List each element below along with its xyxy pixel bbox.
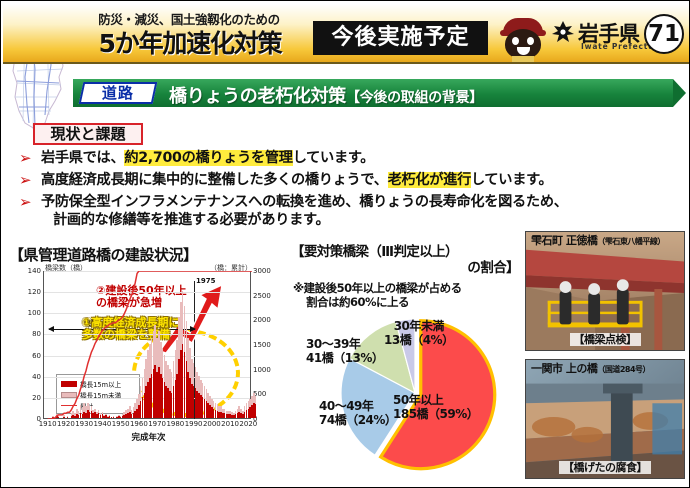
title-bar: 道路 橋りょうの老朽化対策【今後の取組の背景】: [73, 79, 673, 107]
photo-title-note: （雫石東八幡平線）: [597, 237, 665, 246]
girder-corrosion-photo: 一関市 上の橋（国道284号） 【橋げたの腐食】: [525, 359, 685, 479]
x-axis-tick: 1970: [148, 420, 166, 428]
photo-title: 雫石町 正徳橋（雫石東八幡平線）: [526, 232, 684, 249]
legend-item: 橋長15m以上: [61, 378, 135, 389]
page-number: 71: [644, 14, 684, 54]
bar-segment-small: [255, 396, 257, 404]
slide-root: 防災・減災、国土強靱化のための 5か年加速化対策 今後実施予定 岩手県 Iwat…: [0, 0, 690, 488]
bar: [52, 416, 54, 418]
x-axis-tick: 2000: [203, 420, 221, 428]
pie-title-line2: の割合】: [291, 260, 519, 276]
annotation-1-text: ①高度経済成長期に多数の橋梁を整備: [82, 317, 179, 341]
legend-swatch-icon: [61, 381, 77, 387]
list-item: ➢岩手県では、約2,700の橋りょうを管理しています。: [17, 149, 677, 167]
bullet-text-pre: 岩手県では、: [41, 150, 124, 166]
bar-segment-small: [102, 412, 104, 414]
page-title-suffix: 【今後の取組の背景】: [346, 90, 483, 106]
y2-axis-tick: 1000: [253, 366, 271, 374]
photo-caption-text: 【橋梁点検】: [570, 333, 641, 346]
gridline: [44, 292, 250, 293]
y2-axis-tick: 1500: [253, 341, 271, 349]
x-axis-tick: 2020: [239, 420, 257, 428]
y-axis-tick: 100: [28, 309, 41, 317]
bullet-text-post: しています。: [471, 172, 552, 188]
y2-axis-tick: 2000: [253, 316, 271, 324]
bar-segment-large: [58, 417, 60, 418]
bar-segment-large: [52, 417, 54, 418]
y2-axis-tick: 3000: [253, 267, 271, 275]
bar-segment-small: [58, 416, 60, 417]
pie-label-50plus: 50年以上 185橋（59%）: [393, 393, 478, 421]
legend-label: 橋長15m以上: [80, 379, 121, 389]
bar-segment-large: [113, 417, 115, 418]
page-title-main: 橋りょうの老朽化対策: [169, 86, 346, 107]
x-axis-tick: 1940: [93, 420, 111, 428]
photo-title-main: 雫石町 正徳橋: [531, 234, 597, 247]
photo-title: 一関市 上の橋（国道284号）: [526, 360, 684, 377]
bullet-arrow-icon: ➢: [19, 171, 31, 189]
x-axis-tick: 1910: [39, 420, 57, 428]
pie-label-line2: 41橋（13%）: [306, 351, 383, 365]
bar-segment-small: [67, 416, 69, 417]
x-axis-tick: 1990: [185, 420, 203, 428]
gridline: [44, 313, 250, 314]
pie-label-line2: 74橋（24%）: [319, 413, 396, 427]
bar-segment-large: [255, 404, 257, 418]
pie-label-line1: 30～39年: [306, 337, 360, 351]
y-axis-tick: 140: [28, 267, 41, 275]
x-axis-tick: 1920: [57, 420, 75, 428]
bullet-arrow-icon: ➢: [19, 193, 31, 211]
photo-caption: 【橋梁点検】: [526, 331, 684, 347]
legend-swatch-icon: [61, 392, 77, 398]
section-heading-situation: 現状と課題: [33, 123, 143, 145]
bar-chart: 橋梁数（橋） （橋：累計） 1975 建設後50年以上 ②建設後50年以上の橋梁…: [11, 263, 286, 443]
iwate-mascot-icon: [501, 16, 545, 62]
y-axis-tick: 40: [32, 373, 41, 381]
pie-chart-title: 【要対策橋梁（Ⅲ判定以上） の割合】: [291, 244, 519, 276]
bar-segment-small: [63, 415, 65, 417]
status-badge: 今後実施予定: [313, 21, 488, 55]
pie-label-line1: 50年以上: [393, 393, 443, 407]
pie-label-under30: 30年未満 13橋（4%）: [384, 319, 454, 347]
pie-label-30-39: 30～39年 41橋（13%）: [306, 337, 383, 365]
bullet-text-highlight: 約2,700の橋りょうを管理: [124, 150, 292, 166]
photo-caption-text: 【橋げたの腐食】: [559, 461, 651, 474]
annotation-2-text: ②建設後50年以上の橋梁が急増: [96, 285, 187, 309]
bullet-text-pre: 予防保全型インフラメンテナンスへの転換を進め、橋りょうの長寿命化を図るため、: [41, 194, 568, 210]
bar: [58, 416, 60, 418]
pie-label-line2: 185橋（59%）: [393, 407, 478, 421]
bar-segment-small: [105, 414, 107, 415]
x-axis-tick: 2010: [221, 420, 239, 428]
photo-title-note: （国道284号）: [597, 365, 650, 374]
bridge-inspection-photo: 雫石町 正徳橋（雫石東八幡平線） 【橋梁点検】: [525, 231, 685, 351]
pie-note-line1: ※建設後50年以上の橋梁が占める: [293, 281, 462, 295]
gridline: [44, 271, 250, 272]
y-axis-tick: 120: [28, 288, 41, 296]
bar-segment-small: [113, 416, 115, 417]
legend-line-icon: [61, 405, 77, 406]
y-axis-tick: 60: [32, 352, 41, 360]
iwate-prefecture-logo-icon: [551, 20, 575, 46]
category-tag-label: 道路: [83, 84, 153, 103]
photo-title-main: 一関市 上の橋: [531, 362, 597, 375]
bullet-text-line2: 計画的な修繕等を推進する必要があります。: [41, 211, 677, 229]
pie-chart-note: ※建設後50年以上の橋梁が占める 割合は約60%に上る: [293, 281, 519, 309]
y-axis-tick: 20: [32, 394, 41, 402]
header-main-title: 5か年加速化対策: [59, 24, 321, 60]
bullet-text-highlight: 老朽化が進行: [388, 172, 471, 188]
pie-label-line2: 13橋（4%）: [384, 333, 454, 347]
bar: [255, 396, 257, 418]
pie-label-40-49: 40～49年 74橋（24%）: [319, 399, 396, 427]
bar-segment-small: [109, 415, 111, 416]
list-item: ➢高度経済成長期に集中的に整備した多くの橋りょうで、老朽化が進行しています。: [17, 171, 677, 189]
bullet-arrow-icon: ➢: [19, 149, 31, 167]
y2-axis-tick: 2500: [253, 292, 271, 300]
bullet-list: ➢岩手県では、約2,700の橋りょうを管理しています。 ➢高度経済成長期に集中的…: [17, 149, 677, 233]
pie-label-line1: 30年未満: [394, 319, 444, 333]
bar: [113, 416, 115, 418]
bar-chart-title: 【県管理道路橋の建設状況】: [9, 244, 198, 265]
bar-segment-small: [52, 416, 54, 417]
bullet-text-post: しています。: [293, 150, 374, 166]
bullet-text-pre: 高度経済成長期に集中的に整備した多くの橋りょうで、: [41, 172, 388, 188]
y-axis-tick: 80: [32, 330, 41, 338]
gridline: [44, 334, 250, 335]
page-title: 橋りょうの老朽化対策【今後の取組の背景】: [169, 82, 483, 108]
bar-chart-plot-area: 1975 建設後50年以上 ②建設後50年以上の橋梁が急増 ①高度経済成長期に多…: [43, 271, 251, 419]
photo-caption: 【橋げたの腐食】: [526, 459, 684, 475]
slide-header: 防災・減災、国土強靱化のための 5か年加速化対策 今後実施予定 岩手県 Iwat…: [3, 4, 689, 64]
category-tag-road: 道路: [79, 82, 158, 104]
pie-label-line1: 40～49年: [319, 399, 373, 413]
list-item: ➢予防保全型インフラメンテナンスへの転換を進め、橋りょうの長寿命化を図るため、 …: [17, 193, 677, 229]
bar-chart-xlabel: 完成年次: [11, 431, 286, 443]
bar: [63, 415, 65, 418]
bar-segment-large: [67, 417, 69, 418]
bar: [67, 416, 69, 418]
x-axis-tick: 1960: [130, 420, 148, 428]
pie-title-line1: 【要対策橋梁（Ⅲ判定以上）: [291, 244, 458, 260]
bar-segment-large: [63, 417, 65, 418]
x-axis-tick: 1980: [166, 420, 184, 428]
x-axis-tick: 1930: [75, 420, 93, 428]
x-axis-tick: 1950: [112, 420, 130, 428]
